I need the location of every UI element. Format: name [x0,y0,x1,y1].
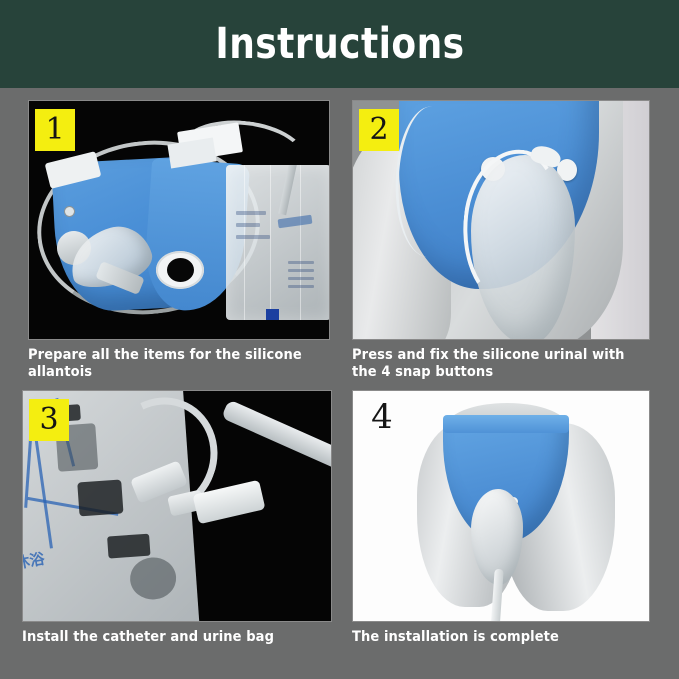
page-header: Instructions [0,0,679,88]
catheter-tube [221,399,332,474]
step-badge-2: 2 [359,109,399,151]
opening-hole [167,258,194,282]
step-caption-1: Prepare all the items for the silicone a… [28,347,330,381]
steps-grid: 1 Prepare all the items for the silicone… [0,88,679,679]
step-badge-4: 4 [365,397,399,437]
step-card-2: 2 Press and fix the silicone urinal with… [352,100,650,381]
step-4-photo: 4 [352,390,650,622]
bag-drain-valve [266,309,279,320]
step-1-photo: 1 [28,100,330,340]
snap-button-icon [65,207,74,216]
step-badge-3: 3 [29,399,69,441]
step-2-photo: 2 [352,100,650,340]
step-card-1: 1 Prepare all the items for the silicone… [28,100,330,381]
step-caption-2: Press and fix the silicone urinal with t… [352,347,650,381]
step-badge-1: 1 [35,109,75,151]
urine-drainage-bag [226,165,330,320]
bag-inlet-tube [278,165,297,215]
step-3-photo: 沐浴 3 [22,390,332,622]
page-title: Instructions [215,19,464,69]
step-caption-4: The installation is complete [352,629,650,646]
step-card-4: 4 The installation is complete [352,390,650,646]
instructions-page: Instructions [0,0,679,679]
bag-brand-print [278,215,313,229]
step-caption-3: Install the catheter and urine bag [22,629,332,646]
bag-chinese-print: 沐浴 [22,548,46,574]
brief-waistband [443,415,569,433]
step-card-3: 沐浴 3 Install the catheter and urine bag [22,390,332,646]
